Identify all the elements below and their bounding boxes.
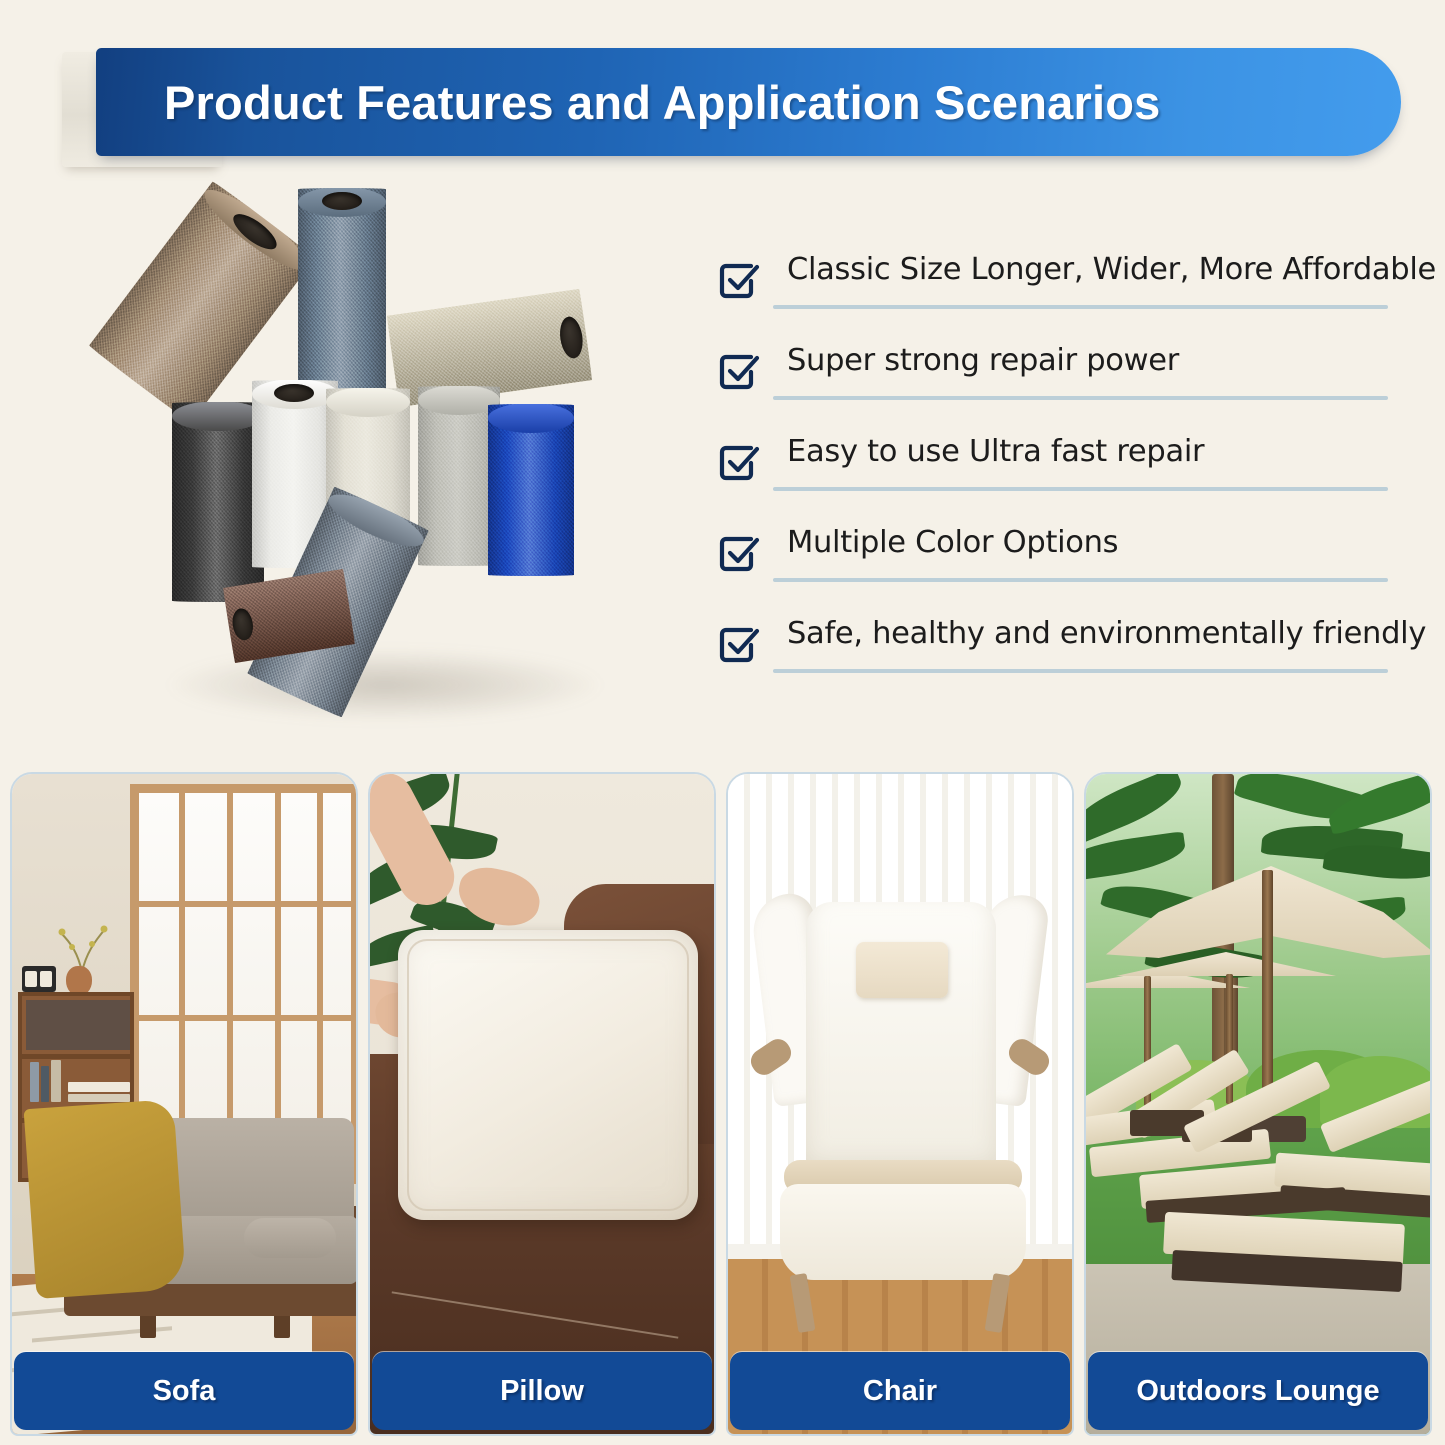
feature-label: Super strong repair power — [787, 343, 1179, 378]
scenario-card-outdoors-lounge[interactable]: Outdoors Lounge — [1084, 772, 1432, 1436]
checkbox-checked-icon — [718, 532, 762, 576]
scenario-cards: Sofa Pillow — [0, 772, 1445, 1445]
tape-roll-charcoal — [172, 402, 264, 602]
checkbox-checked-icon — [718, 350, 762, 394]
scenario-label-text: Outdoors Lounge — [1136, 1375, 1379, 1408]
feature-label: Multiple Color Options — [787, 525, 1118, 560]
scene-image-chair — [728, 774, 1072, 1434]
header-area: Product Features and Application Scenari… — [0, 0, 1445, 190]
feature-row: Classic Size Longer, Wider, More Afforda… — [715, 250, 1405, 341]
feature-divider — [773, 396, 1388, 400]
scenario-card-chair[interactable]: Chair — [726, 772, 1074, 1436]
scenario-card-sofa[interactable]: Sofa — [10, 772, 358, 1436]
scenario-label-chair: Chair — [730, 1352, 1070, 1430]
product-photo-fabric-tape-rolls — [140, 180, 630, 725]
scenario-label-sofa: Sofa — [14, 1352, 354, 1430]
feature-row: Safe, healthy and environmentally friend… — [715, 614, 1405, 705]
feature-list: Classic Size Longer, Wider, More Afforda… — [715, 250, 1405, 705]
feature-divider — [773, 305, 1388, 309]
feature-divider — [773, 669, 1388, 673]
scenario-label-text: Chair — [863, 1375, 937, 1408]
scenario-label-pillow: Pillow — [372, 1352, 712, 1430]
feature-divider — [773, 487, 1388, 491]
feature-row: Multiple Color Options — [715, 523, 1405, 614]
feature-divider — [773, 578, 1388, 582]
header-banner: Product Features and Application Scenari… — [96, 48, 1401, 156]
page-title: Product Features and Application Scenari… — [164, 75, 1160, 130]
feature-label: Classic Size Longer, Wider, More Afforda… — [787, 252, 1436, 287]
checkbox-checked-icon — [718, 441, 762, 485]
scene-image-outdoors-lounge — [1086, 774, 1430, 1434]
tape-roll-royal-blue — [488, 404, 574, 576]
scenario-card-pillow[interactable]: Pillow — [368, 772, 716, 1436]
feature-row: Super strong repair power — [715, 341, 1405, 432]
feature-label: Safe, healthy and environmentally friend… — [787, 616, 1426, 651]
tape-roll-blue-gray — [298, 188, 386, 403]
checkbox-checked-icon — [718, 623, 762, 667]
scenario-label-outdoors-lounge: Outdoors Lounge — [1088, 1352, 1428, 1430]
scenario-label-text: Pillow — [500, 1375, 584, 1408]
scene-image-pillow — [370, 774, 714, 1434]
feature-label: Easy to use Ultra fast repair — [787, 434, 1204, 469]
feature-row: Easy to use Ultra fast repair — [715, 432, 1405, 523]
checkbox-checked-icon — [718, 259, 762, 303]
scenario-label-text: Sofa — [153, 1375, 216, 1408]
scene-image-sofa — [12, 774, 356, 1434]
